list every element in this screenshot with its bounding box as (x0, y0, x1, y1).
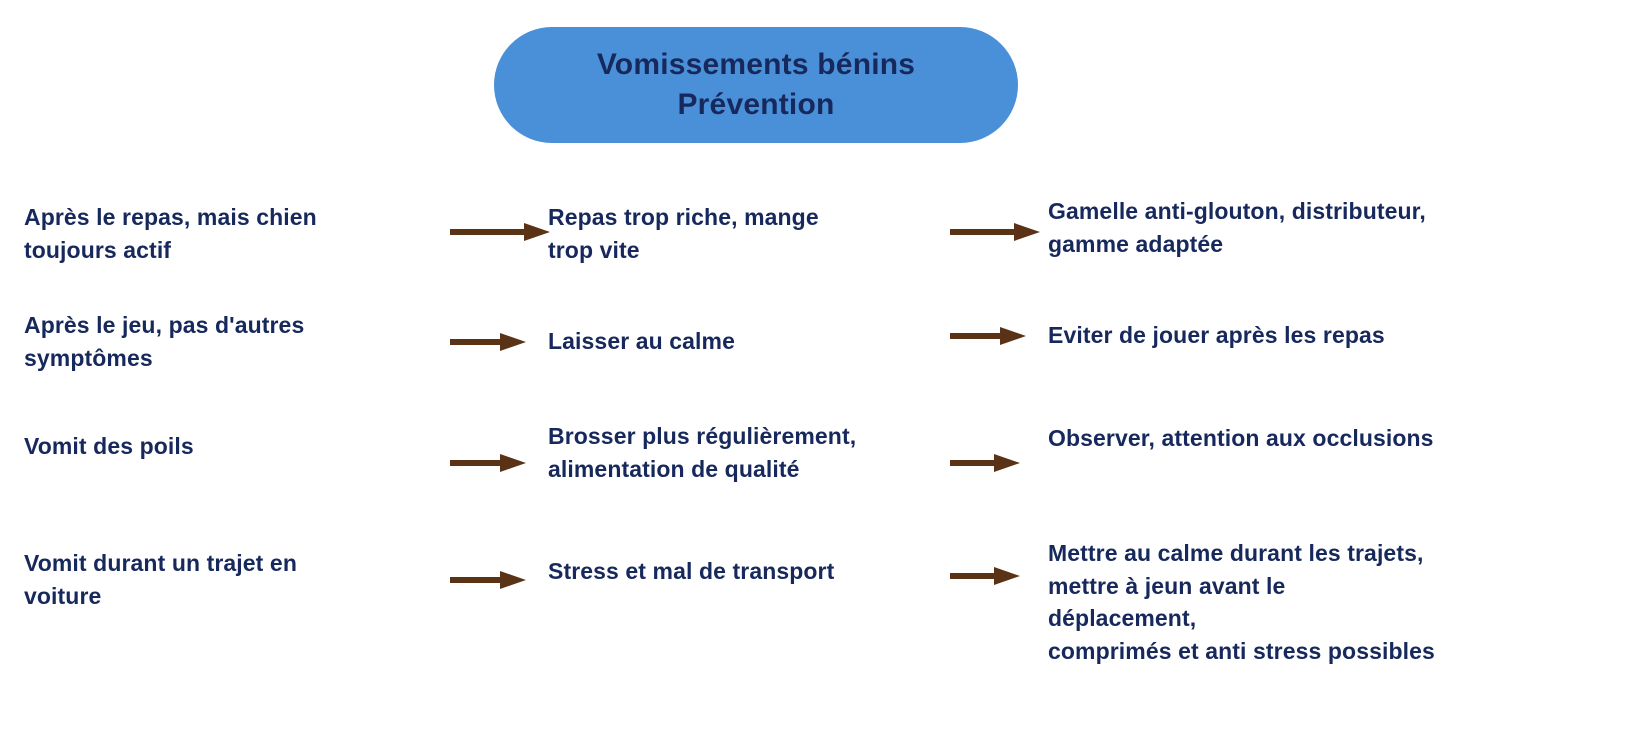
prevention-line: comprimés et anti stress possibles (1048, 635, 1588, 668)
situation-line: Après le jeu, pas d'autres (24, 309, 434, 342)
situation-cell: Après le repas, mais chien toujours acti… (24, 201, 434, 266)
situation-line: Vomit durant un trajet en (24, 547, 434, 580)
cause-cell: Repas trop riche, mange trop vite (548, 201, 938, 266)
prevention-cell: Observer, attention aux occlusions (1048, 422, 1588, 455)
situation-cell: Vomit des poils (24, 430, 434, 463)
arrow-right-icon (450, 452, 526, 474)
situation-cell: Après le jeu, pas d'autres symptômes (24, 309, 434, 374)
situation-line: Vomit des poils (24, 430, 434, 463)
prevention-line: déplacement, (1048, 602, 1588, 635)
prevention-line: Gamelle anti-glouton, distributeur, (1048, 195, 1588, 228)
arrow-right-icon (450, 331, 526, 353)
cause-line: Repas trop riche, mange (548, 201, 938, 234)
cause-line: Brosser plus régulièrement, (548, 420, 938, 453)
title-line-2: Prévention (677, 85, 834, 125)
cause-line: Stress et mal de transport (548, 555, 938, 588)
title-line-1: Vomissements bénins (597, 45, 915, 85)
prevention-line: Observer, attention aux occlusions (1048, 422, 1588, 455)
flow-rows: Après le repas, mais chien toujours acti… (0, 165, 1648, 687)
prevention-cell: Eviter de jouer après les repas (1048, 319, 1588, 352)
situation-line: Après le repas, mais chien (24, 201, 434, 234)
flow-row: Vomit des poils Brosser plus régulièreme… (0, 390, 1648, 507)
arrow-right-icon (450, 221, 550, 243)
cause-line: Laisser au calme (548, 325, 938, 358)
arrow-right-icon (950, 221, 1040, 243)
arrow-right-icon (950, 565, 1020, 587)
situation-line: voiture (24, 580, 434, 613)
situation-line: toujours actif (24, 234, 434, 267)
arrow-right-icon (950, 325, 1026, 347)
situation-line: symptômes (24, 342, 434, 375)
flow-row: Après le repas, mais chien toujours acti… (0, 165, 1648, 277)
arrow-right-icon (450, 569, 526, 591)
prevention-cell: Gamelle anti-glouton, distributeur, gamm… (1048, 195, 1588, 260)
prevention-line: mettre à jeun avant le (1048, 570, 1588, 603)
prevention-line: Eviter de jouer après les repas (1048, 319, 1588, 352)
prevention-line: Mettre au calme durant les trajets, (1048, 537, 1588, 570)
situation-cell: Vomit durant un trajet en voiture (24, 547, 434, 612)
flow-row: Vomit durant un trajet en voiture Stress… (0, 507, 1648, 687)
prevention-cell: Mettre au calme durant les trajets, mett… (1048, 537, 1588, 668)
cause-line: alimentation de qualité (548, 453, 938, 486)
arrow-right-icon (950, 452, 1020, 474)
cause-line: trop vite (548, 234, 938, 267)
cause-cell: Brosser plus régulièrement, alimentation… (548, 420, 938, 485)
cause-cell: Stress et mal de transport (548, 555, 938, 588)
prevention-line: gamme adaptée (1048, 228, 1588, 261)
cause-cell: Laisser au calme (548, 325, 938, 358)
diagram-title-pill: Vomissements bénins Prévention (494, 27, 1018, 143)
flow-row: Après le jeu, pas d'autres symptômes Lai… (0, 277, 1648, 390)
